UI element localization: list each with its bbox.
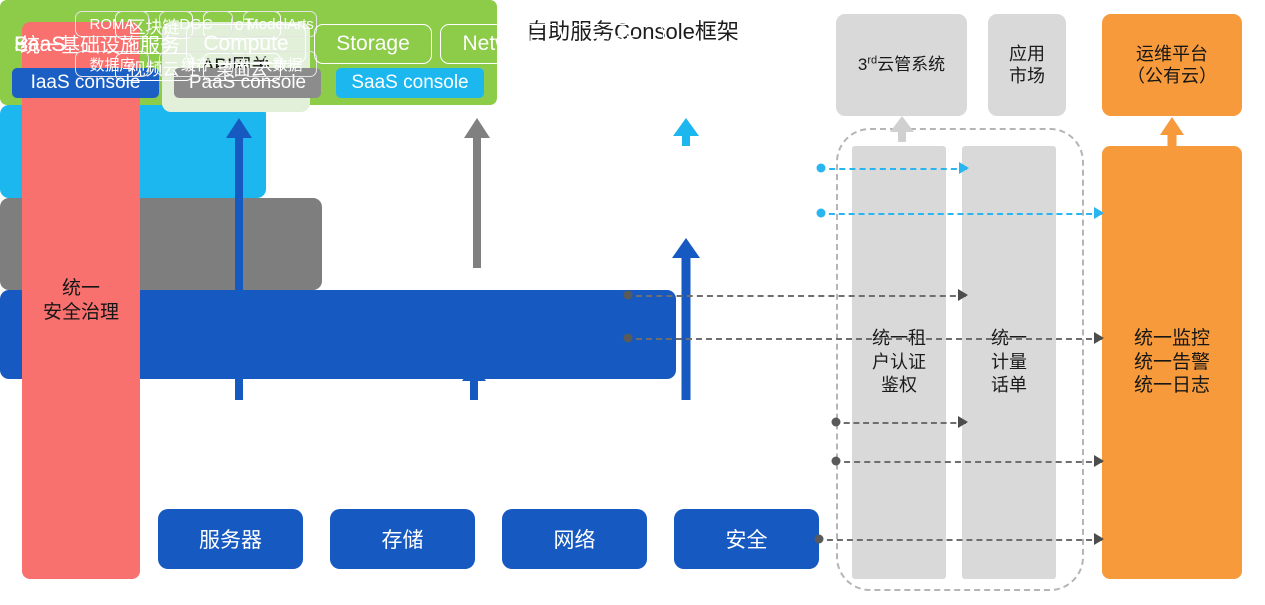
infra-service-storage[interactable]: Storage <box>314 24 432 64</box>
ops-platform-public-cloud-box: 运维平台 （公有云） <box>1102 14 1242 116</box>
arrow-infra-to-api-gateway <box>226 118 252 400</box>
infra-service-compute[interactable]: Compute <box>186 24 306 64</box>
unified-metering-billing-column: 统一 计量 话单 <box>962 146 1056 579</box>
connector-infra-to-auth <box>834 422 966 424</box>
third-cloud-label: 3rd云管系统 <box>858 54 945 75</box>
connector-infra-to-ops <box>834 461 1102 463</box>
app-market-line2: 市场 <box>1009 65 1045 88</box>
hardware-security-label: 安全 <box>726 524 768 554</box>
arrow-saas-to-console <box>673 118 699 146</box>
third-party-cloud-management-box: 3rd云管系统 <box>836 14 967 116</box>
security-governance-pillar: 统一 安全治理 <box>22 22 140 579</box>
third-cloud-sup: rd <box>867 55 877 67</box>
connector-arrow-infra-2 <box>1094 455 1104 467</box>
third-cloud-prefix: 3 <box>858 55 867 74</box>
connector-saas-to-metering <box>819 168 967 170</box>
connector-arrow-paas-1 <box>958 289 968 301</box>
hardware-network-box: 网络 <box>502 509 647 569</box>
connector-arrow-hardware <box>1094 533 1104 545</box>
unified-monitoring-pillar: 统一监控 统一告警 统一日志 <box>1102 146 1242 579</box>
architecture-diagram: 统一 安全治理 API网关 自助服务Console框架 IaaS console… <box>0 0 1265 605</box>
hardware-server-label: 服务器 <box>199 524 262 554</box>
ops-top-line1: 运维平台 <box>1127 43 1217 66</box>
third-cloud-text: 云管系统 <box>877 55 945 74</box>
metering-line2: 计量 <box>991 351 1027 374</box>
hardware-network-label: 网络 <box>554 524 596 554</box>
infra-service-network-label: Network <box>462 32 539 56</box>
security-pillar-line1: 统一 <box>43 277 119 301</box>
infra-service-storage-label: Storage <box>336 32 410 56</box>
arrow-infra-to-saas <box>673 238 699 400</box>
infrastructure-label: 统一基础设施服务 <box>20 29 180 58</box>
arrow-paas-to-console <box>464 118 490 268</box>
infra-service-cce-label: CCE <box>595 32 639 56</box>
connector-dot-paas-1 <box>624 291 633 300</box>
connector-arrow-paas-2 <box>1094 332 1104 344</box>
app-market-box: 应用 市场 <box>988 14 1066 116</box>
connector-arrow-saas-1 <box>959 162 969 174</box>
ops-pillar-line1: 统一监控 <box>1134 327 1210 351</box>
hardware-storage-box: 存储 <box>330 509 475 569</box>
hardware-server-box: 服务器 <box>158 509 303 569</box>
connector-dot-infra-2 <box>832 457 841 466</box>
auth-line2: 户认证 <box>872 351 926 374</box>
connector-arrow-infra-1 <box>958 416 968 428</box>
connector-dot-infra-1 <box>832 418 841 427</box>
auth-line3: 鉴权 <box>872 374 926 397</box>
connector-saas-to-ops <box>819 213 1102 215</box>
connector-dot-paas-2 <box>624 334 633 343</box>
hardware-security-box: 安全 <box>674 509 819 569</box>
hardware-storage-label: 存储 <box>382 524 424 554</box>
ops-pillar-line3: 统一日志 <box>1134 374 1210 398</box>
connector-dot-hardware <box>815 535 824 544</box>
arrow-infra-to-paas <box>462 364 486 400</box>
ops-top-line2: （公有云） <box>1127 65 1217 88</box>
metering-line3: 话单 <box>991 374 1027 397</box>
app-market-line1: 应用 <box>1009 43 1045 66</box>
saas-console-label: SaaS console <box>351 72 468 94</box>
infra-service-compute-label: Compute <box>203 32 288 56</box>
arrow-ops-pillar-to-ops-top <box>1159 117 1185 147</box>
connector-hardware-to-ops <box>817 539 1102 541</box>
infra-service-cce[interactable]: CCE <box>570 24 664 64</box>
arrow-to-third-cloud <box>889 116 915 142</box>
saas-console-chip[interactable]: SaaS console <box>336 68 484 98</box>
connector-dot-saas-1 <box>817 164 826 173</box>
connector-dot-saas-2 <box>817 209 826 218</box>
infra-service-network[interactable]: Network <box>440 24 562 64</box>
unified-tenant-auth-column: 统一租 户认证 鉴权 <box>852 146 946 579</box>
connector-paas-to-auth <box>626 295 966 297</box>
connector-paas-to-ops <box>626 338 1102 340</box>
security-pillar-line2: 安全治理 <box>43 301 119 325</box>
ops-pillar-line2: 统一告警 <box>1134 351 1210 375</box>
connector-arrow-saas-2 <box>1094 207 1104 219</box>
